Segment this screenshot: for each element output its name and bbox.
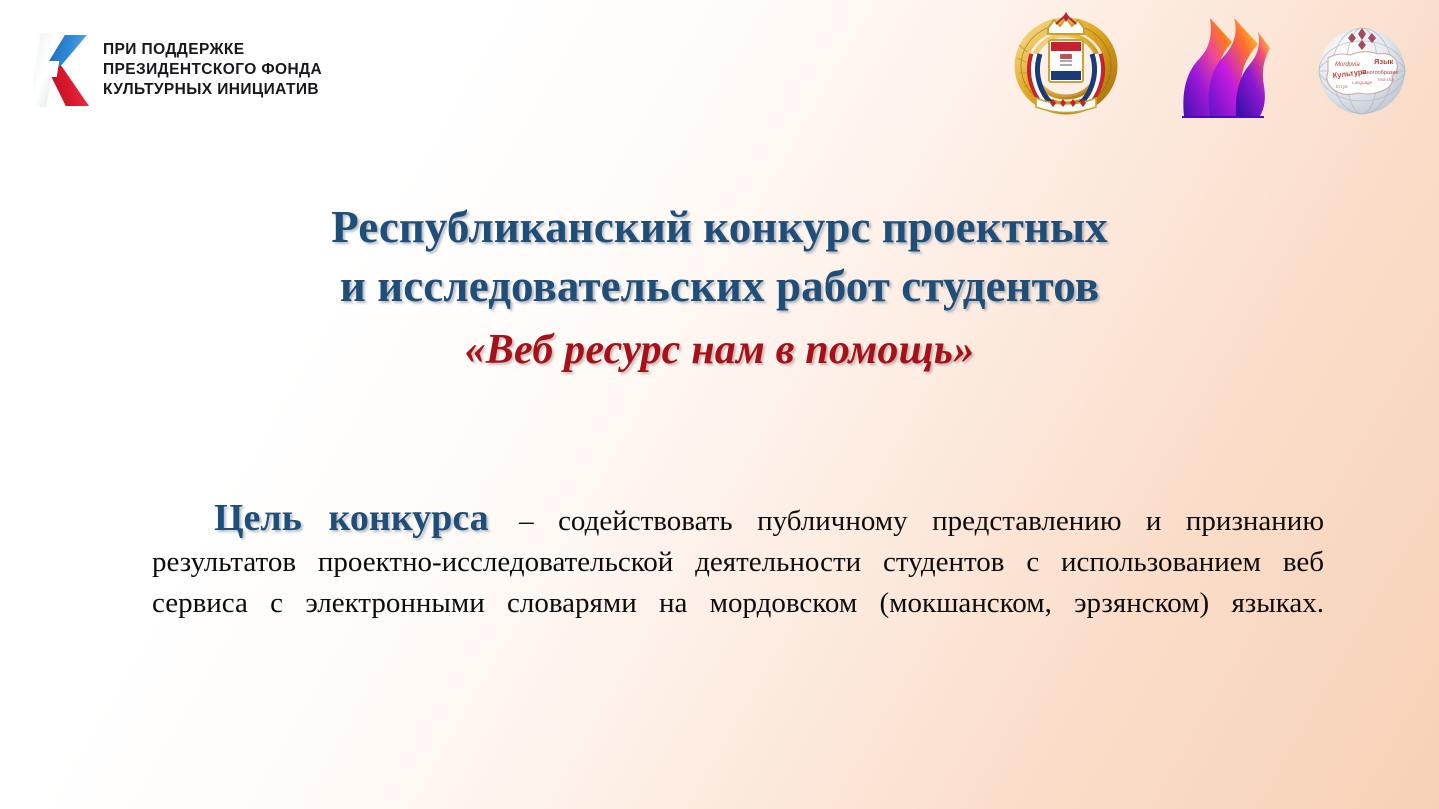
presidential-fund-logo-text: ПРИ ПОДДЕРЖКЕ ПРЕЗИДЕНТСКОГО ФОНДА КУЛЬТ… — [103, 40, 322, 100]
presidential-fund-line-3: КУЛЬТУРНЫХ ИНИЦИАТИВ — [103, 80, 322, 100]
gradient-flame-icon — [1176, 16, 1274, 118]
svg-text:Язык: Язык — [1374, 57, 1394, 66]
title-block: Республиканский конкурс проектных и иссл… — [0, 198, 1439, 377]
goal-lead-label: Цель конкурса — [214, 497, 495, 539]
presidential-fund-logo: ПРИ ПОДДЕРЖКЕ ПРЕЗИДЕНТСКОГО ФОНДА КУЛЬТ… — [33, 33, 322, 107]
presidential-fund-line-1: ПРИ ПОДДЕРЖКЕ — [103, 40, 322, 60]
coat-of-arms-icon — [1010, 12, 1122, 116]
svg-text:Moksha: Moksha — [1378, 77, 1394, 82]
subtitle: «Веб ресурс нам в помощь» — [0, 324, 1439, 377]
svg-text:Многообразие: Многообразие — [1362, 70, 1399, 76]
mordovia-globe-icon: Mordovia Язык Культура Многообразие Lang… — [1312, 24, 1412, 118]
goal-paragraph: Цель конкурса – содействовать публичному… — [152, 498, 1324, 665]
presentation-slide: ПРИ ПОДДЕРЖКЕ ПРЕЗИДЕНТСКОГО ФОНДА КУЛЬТ… — [0, 0, 1439, 809]
body-block: Цель конкурса – содействовать публичному… — [152, 498, 1324, 665]
title-line-2: и исследовательских работ студентов — [0, 257, 1439, 316]
logo-bar: ПРИ ПОДДЕРЖКЕ ПРЕЗИДЕНТСКОГО ФОНДА КУЛЬТ… — [0, 0, 1439, 130]
presidential-fund-k-mark-icon — [33, 33, 89, 107]
title-line-1: Республиканский конкурс проектных — [0, 198, 1439, 257]
svg-text:Erzya: Erzya — [1336, 84, 1348, 89]
presidential-fund-line-2: ПРЕЗИДЕНТСКОГО ФОНДА — [103, 60, 322, 80]
svg-text:Language: Language — [1352, 80, 1373, 85]
